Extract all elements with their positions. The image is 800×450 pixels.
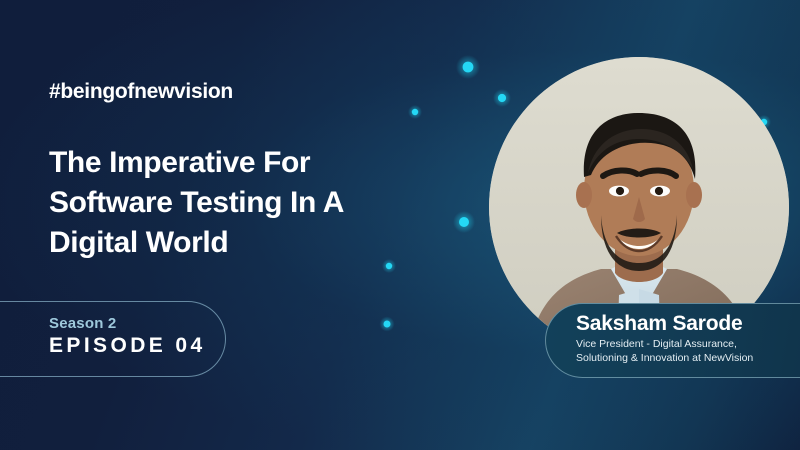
podcast-cover-canvas: Saksham Sarode Vice President - Digital … [0,0,800,450]
episode-badge: Season 2 EPISODE 04 [0,301,226,377]
season-label: Season 2 [49,315,225,332]
speaker-role-line-2: Solutioning & Innovation at NewVision [576,352,791,366]
speaker-role-line-1: Vice President - Digital Assurance, [576,338,791,352]
speaker-name: Saksham Sarode [576,313,791,335]
episode-label: EPISODE 04 [49,334,225,358]
page-title: The Imperative For Software Testing In A… [49,143,344,263]
brand-hashtag: #beingofnewvision [49,80,233,104]
speaker-name-plate: Saksham Sarode Vice President - Digital … [545,303,800,378]
